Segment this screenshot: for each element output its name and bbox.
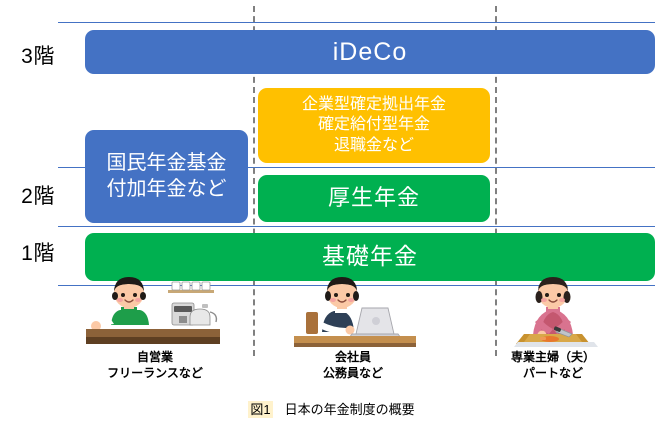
person-caption-self-employed: 自営業 フリーランスなど bbox=[80, 350, 230, 381]
figure-caption: 図1日本の年金制度の概要 bbox=[0, 399, 663, 418]
homemaker-cooking-icon bbox=[478, 276, 628, 348]
tier-box-ideco: iDeCo bbox=[85, 30, 655, 74]
office-worker-laptop-icon bbox=[278, 276, 428, 348]
floor-label-1: 1階 bbox=[10, 243, 66, 264]
tier-box-corporate-pension: 企業型確定拠出年金 確定給付型年金 退職金など bbox=[258, 88, 490, 163]
person-caption-homemaker: 専業主婦（夫） パートなど bbox=[478, 350, 628, 381]
cafe-owner-icon bbox=[80, 276, 230, 348]
floor-label-3: 3階 bbox=[10, 46, 66, 67]
tier-box-kiso-nenkin: 基礎年金 bbox=[85, 233, 655, 281]
figure-title: 日本の年金制度の概要 bbox=[285, 402, 415, 417]
person-group-homemaker: 専業主婦（夫） パートなど bbox=[478, 276, 628, 381]
person-caption-company-employee: 会社員 公務員など bbox=[278, 350, 428, 381]
tier-box-kosei-nenkin: 厚生年金 bbox=[258, 175, 490, 222]
person-group-company-employee: 会社員 公務員など bbox=[278, 276, 428, 381]
tier-box-kokumin-nenkin-kikin: 国民年金基金 付加年金など bbox=[85, 130, 248, 223]
person-group-self-employed: 自営業 フリーランスなど bbox=[80, 276, 230, 381]
tier-rule-top bbox=[58, 22, 655, 23]
tier-rule-floor2-floor1 bbox=[58, 226, 655, 227]
floor-label-2: 2階 bbox=[10, 186, 66, 207]
pension-system-diagram: 3階 2階 1階 iDeCo 企業型確定拠出年金 確定給付型年金 退職金など 国… bbox=[0, 0, 663, 426]
figure-number: 図1 bbox=[248, 401, 272, 418]
